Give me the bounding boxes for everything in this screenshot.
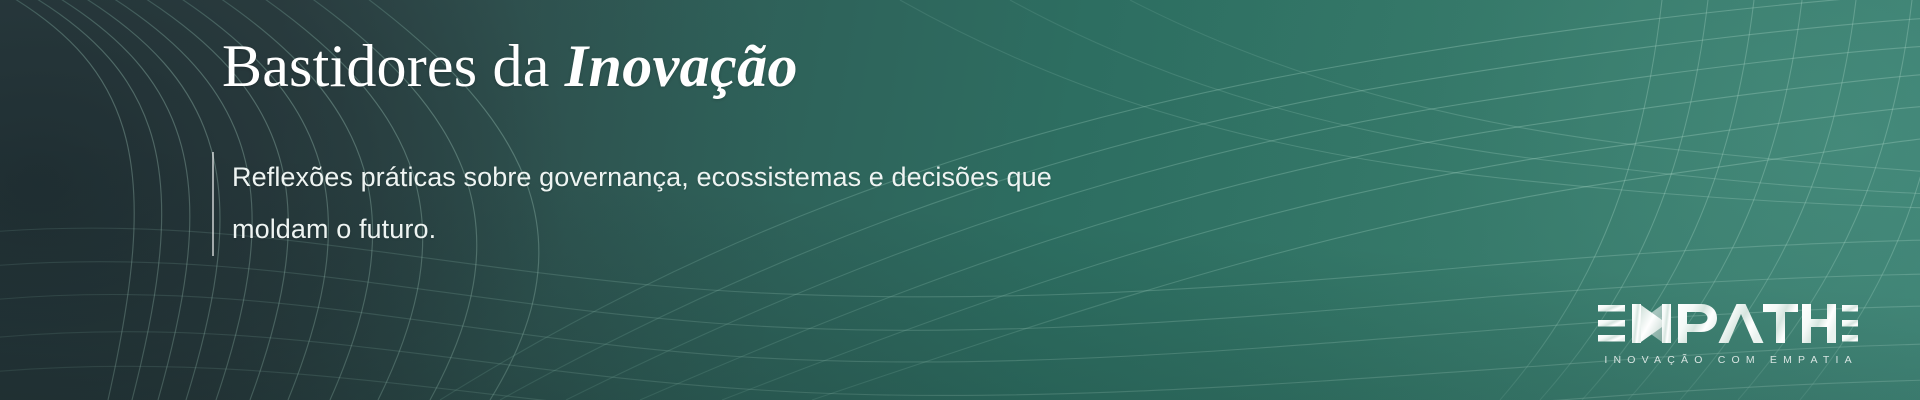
subtitle-block: Reflexões práticas sobre governança, eco… (212, 152, 1052, 256)
title-lead: Bastidores da (222, 33, 565, 99)
hero-banner: Bastidores da Inovação Reflexões prática… (0, 0, 1920, 400)
banner-content: Bastidores da Inovação Reflexões prática… (0, 0, 1920, 400)
brand-logo[interactable]: INOVAÇÃO COM EMPATIA (1598, 301, 1858, 366)
subtitle-text: Reflexões práticas sobre governança, eco… (214, 152, 1052, 256)
logo-wordmark-empatheia (1598, 301, 1858, 347)
subtitle-line-2: moldam o futuro. (232, 214, 436, 244)
page-title: Bastidores da Inovação (222, 34, 798, 99)
title-accent-word: Inovação (565, 33, 798, 99)
subtitle-line-1: Reflexões práticas sobre governança, eco… (232, 162, 1052, 192)
logo-tagline: INOVAÇÃO COM EMPATIA (1598, 354, 1858, 366)
